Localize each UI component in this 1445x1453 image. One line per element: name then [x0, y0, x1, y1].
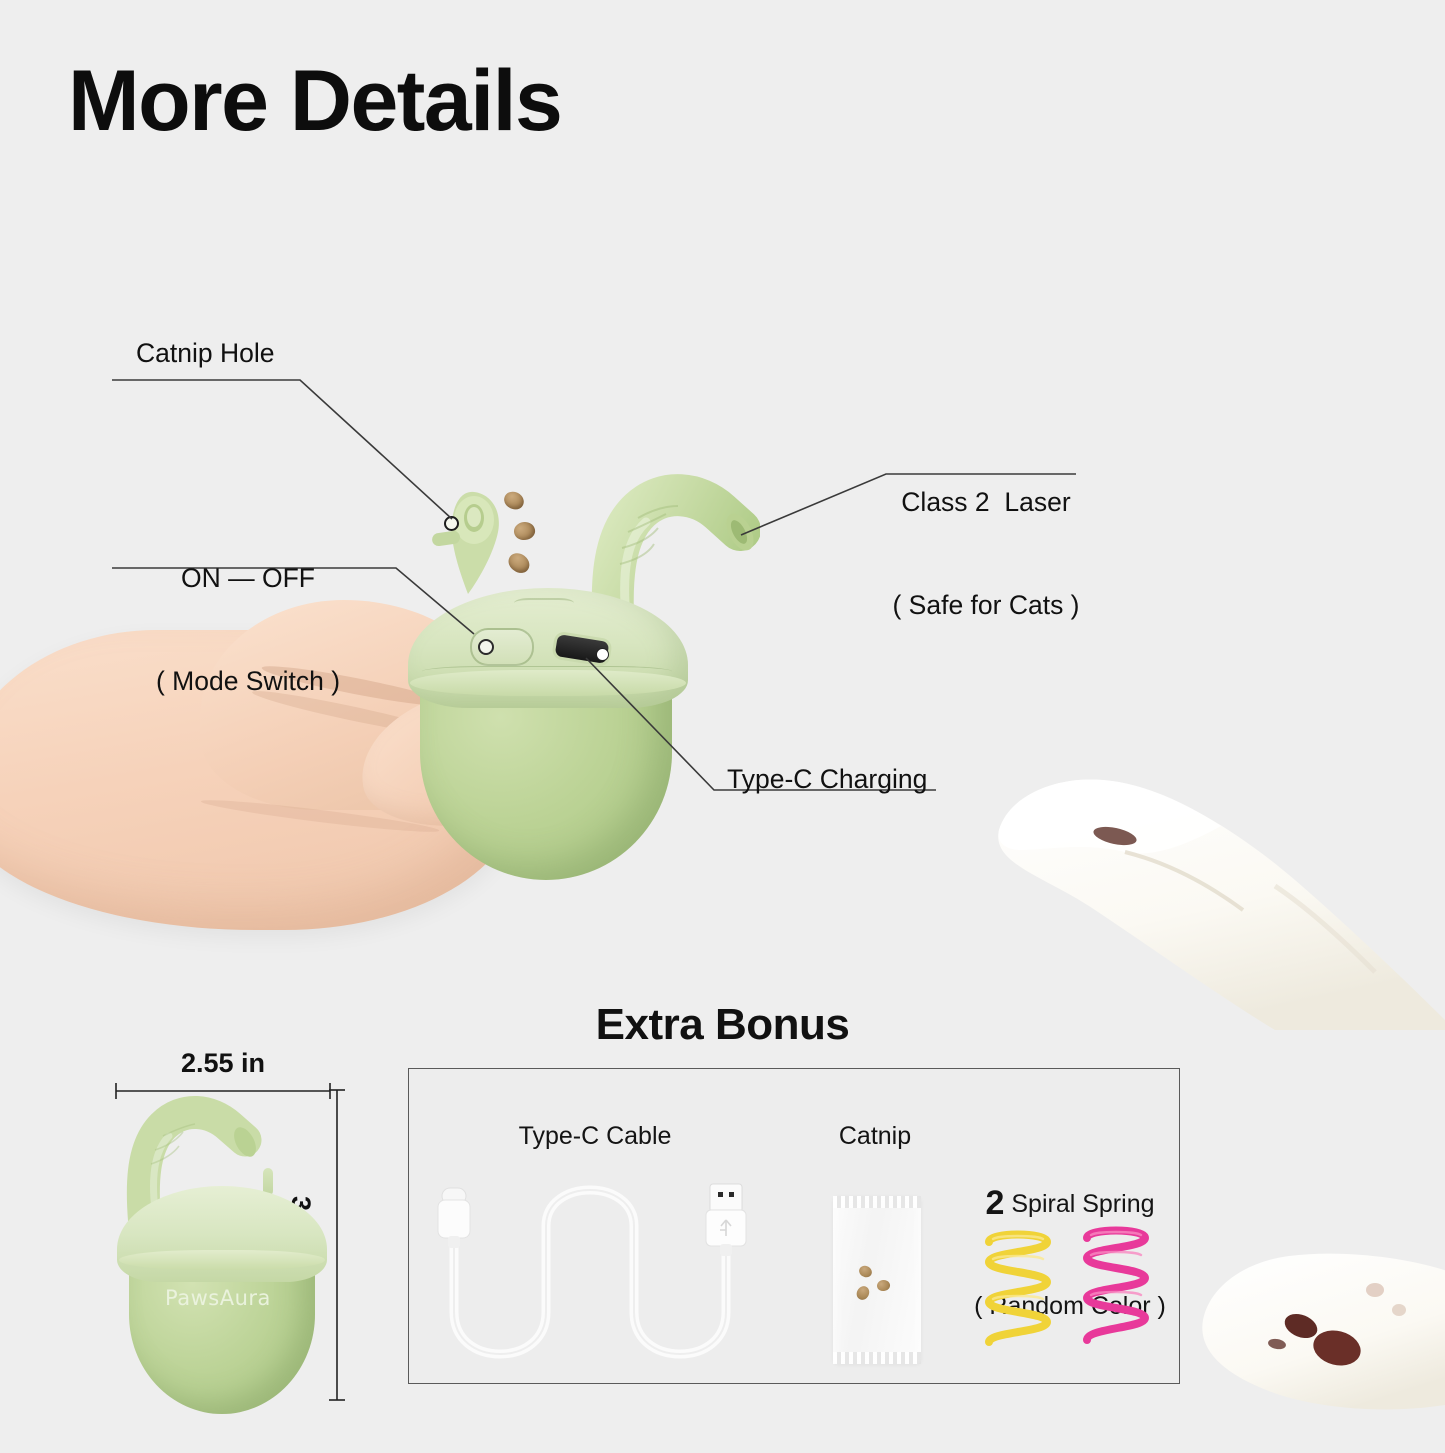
- spiral-springs: [975, 1212, 1160, 1362]
- product-detail-page: More Details: [0, 0, 1445, 1445]
- extra-bonus-title: Extra Bonus: [0, 1000, 1445, 1050]
- bag-crimp-top: [833, 1196, 921, 1208]
- brand-logo: PawsAura: [103, 1286, 333, 1310]
- catnip-seed: [876, 1279, 891, 1292]
- catnip-bag: [833, 1196, 921, 1364]
- catnip-hole-flap: [432, 486, 494, 590]
- catnip-seed: [858, 1264, 874, 1279]
- cap-vent: [514, 598, 574, 608]
- callout-laser-line1: Class 2 Laser: [866, 485, 1106, 519]
- dimension-width-label: 2.55 in: [118, 1048, 328, 1079]
- bonus-label-catnip: Catnip: [805, 1120, 945, 1152]
- spring-pink: [1087, 1231, 1145, 1341]
- bag-crimp-bottom: [833, 1352, 921, 1364]
- spring-yellow: [989, 1235, 1047, 1343]
- catnip-seed: [854, 1284, 872, 1302]
- callout-mode-switch-line1: ON — OFF: [108, 561, 388, 595]
- callout-laser: Class 2 Laser ( Safe for Cats ): [866, 416, 1106, 692]
- mode-switch-marker: [478, 639, 494, 655]
- catnip-hole-marker: [444, 516, 459, 531]
- callout-mode-switch: ON — OFF ( Mode Switch ): [108, 492, 388, 768]
- device-small-rim: [119, 1250, 325, 1270]
- cat-paw-upper: [975, 700, 1445, 1030]
- callout-laser-line2: ( Safe for Cats ): [866, 588, 1106, 622]
- device-cap-groove: [422, 666, 672, 677]
- callout-type-c-charging: Type-C Charging: [727, 762, 927, 796]
- page-title: More Details: [68, 58, 561, 144]
- type-c-cable-graphic: [428, 1182, 780, 1372]
- kibble: [512, 520, 537, 543]
- product-device-main: [408, 470, 728, 890]
- callout-catnip-hole: Catnip Hole: [136, 336, 274, 370]
- callout-mode-switch-line2: ( Mode Switch ): [108, 664, 388, 698]
- usb-a-connector: [706, 1184, 746, 1256]
- bonus-label-type-c-cable: Type-C Cable: [455, 1120, 735, 1152]
- usb-c-port-marker: [596, 648, 609, 661]
- cat-paw-lower: [1185, 1228, 1445, 1448]
- product-device-small: PawsAura: [103, 1090, 333, 1400]
- usb-c-connector: [438, 1188, 470, 1248]
